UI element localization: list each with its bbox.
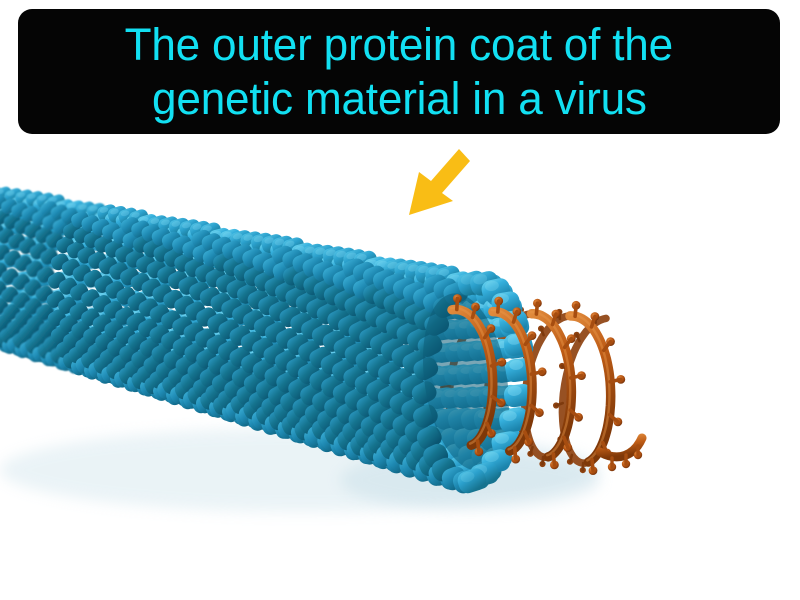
caption-line-2: genetic material in a virus (152, 72, 647, 126)
arrow-down-left-icon (398, 145, 488, 235)
flashcard-image: The outer protein coat of the genetic ma… (0, 0, 800, 600)
caption-banner: The outer protein coat of the genetic ma… (18, 9, 780, 134)
caption-line-1: The outer protein coat of the (125, 18, 673, 72)
